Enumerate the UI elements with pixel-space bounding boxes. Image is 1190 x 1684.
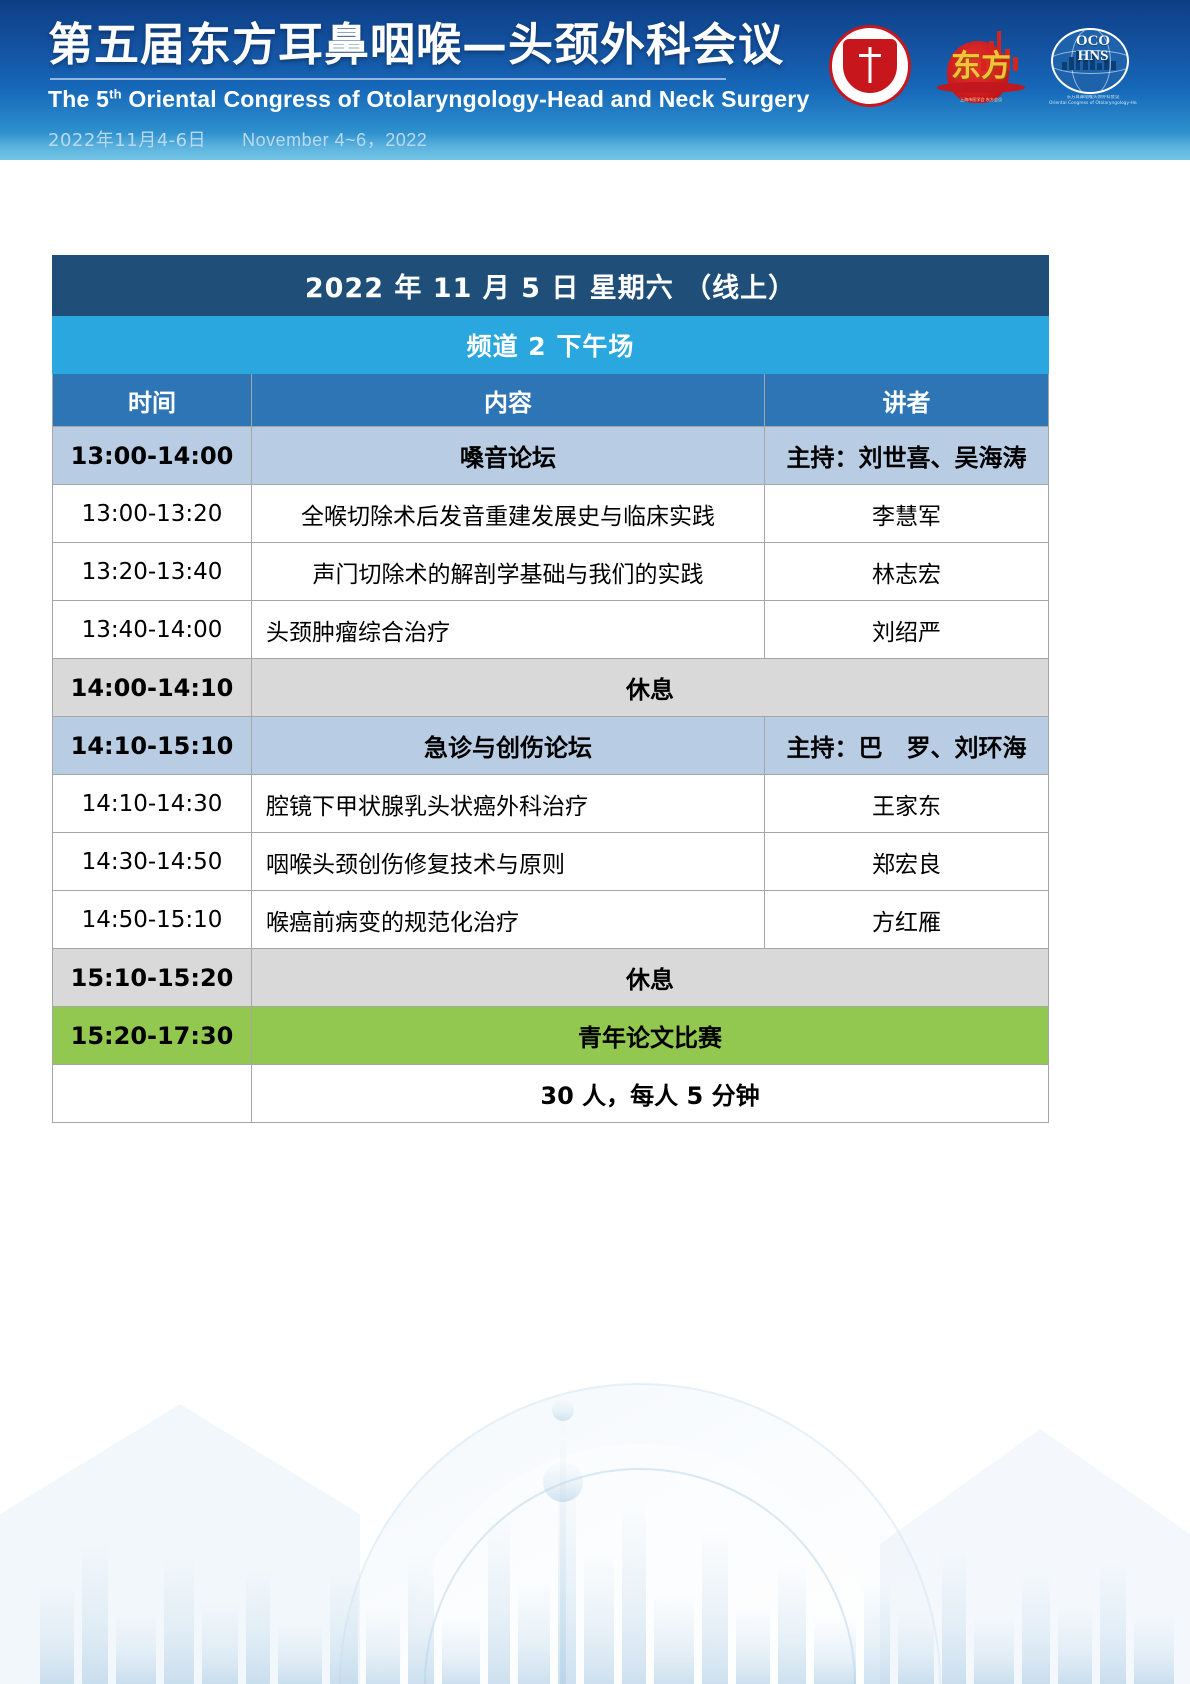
contest-note-time <box>53 1065 252 1123</box>
day-title-row: 2022 年 11 月 5 日 星期六 （线上） <box>53 256 1049 316</box>
break-time: 15:10-15:20 <box>53 949 252 1007</box>
break-time: 14:00-14:10 <box>53 659 252 717</box>
talk-speaker: 王家东 <box>765 775 1049 833</box>
break-label: 休息 <box>252 949 1049 1007</box>
break-label: 休息 <box>252 659 1049 717</box>
congress-title-english-pre: The 5 <box>48 86 109 112</box>
talk-title: 全喉切除术后发音重建发展史与临床实践 <box>252 485 765 543</box>
talk-title: 头颈肿瘤综合治疗 <box>252 601 765 659</box>
shanghai-medical-association-logo <box>829 25 911 107</box>
oriental-congress-logo-caption: 上海市医学会 东方会议 <box>939 97 1023 103</box>
oco-hns-logo-line1: OCO <box>1051 34 1135 49</box>
oco-hns-logo: OCO HNS 东方耳鼻咽喉头颈外科会议 Oriental Congress o… <box>1051 24 1135 108</box>
channel-row: 频道 2 下午场 <box>53 316 1049 374</box>
column-header-time: 时间 <box>53 374 252 427</box>
congress-dates-chinese: 2022年11月4-6日 <box>48 130 206 151</box>
schedule-table-body: 2022 年 11 月 5 日 星期六 （线上） 频道 2 下午场 时间 内容 … <box>53 256 1049 1123</box>
oco-hns-logo-line2: HNS <box>1051 49 1135 64</box>
session-moderators: 主持：巴 罗、刘环海 <box>765 717 1049 775</box>
break-row: 15:10-15:20 休息 <box>53 949 1049 1007</box>
session-time: 14:10-15:10 <box>53 717 252 775</box>
congress-title-english-post: Oriental Congress of Otolaryngology-Head… <box>122 86 810 112</box>
column-header-content: 内容 <box>252 374 765 427</box>
table-row: 13:20-13:40 声门切除术的解剖学基础与我们的实践 林志宏 <box>53 543 1049 601</box>
break-row: 14:00-14:10 休息 <box>53 659 1049 717</box>
table-row: 14:30-14:50 咽喉头颈创伤修复技术与原则 郑宏良 <box>53 833 1049 891</box>
congress-dates: 2022年11月4-6日November 4~6，2022 <box>48 126 1190 152</box>
table-row: 14:10-14:30 腔镜下甲状腺乳头状癌外科治疗 王家东 <box>53 775 1049 833</box>
contest-row: 15:20-17:30 青年论文比赛 <box>53 1007 1049 1065</box>
column-header-speaker: 讲者 <box>765 374 1049 427</box>
talk-time: 13:40-14:00 <box>53 601 252 659</box>
table-row: 14:50-15:10 喉癌前病变的规范化治疗 方红雁 <box>53 891 1049 949</box>
oriental-congress-logo-glyph: 东方 <box>951 41 1011 85</box>
session-time: 13:00-14:00 <box>53 427 252 485</box>
talk-speaker: 刘绍严 <box>765 601 1049 659</box>
ordinal-suffix: th <box>109 86 122 101</box>
contest-time: 15:20-17:30 <box>53 1007 252 1065</box>
talk-time: 13:00-13:20 <box>53 485 252 543</box>
table-row: 13:40-14:00 头颈肿瘤综合治疗 刘绍严 <box>53 601 1049 659</box>
talk-title: 咽喉头颈创伤修复技术与原则 <box>252 833 765 891</box>
session-title: 嗓音论坛 <box>252 427 765 485</box>
talk-time: 14:30-14:50 <box>53 833 252 891</box>
talk-speaker: 林志宏 <box>765 543 1049 601</box>
contest-note-row: 30 人，每人 5 分钟 <box>53 1065 1049 1123</box>
session-title: 急诊与创伤论坛 <box>252 717 765 775</box>
skyline-watermark <box>0 1214 1190 1684</box>
oriental-congress-logo: 东方 上海市医学会 东方会议 <box>933 27 1029 105</box>
congress-dates-english: November 4~6，2022 <box>242 130 427 150</box>
oco-hns-logo-caption-en: Oriental Congress of Otolaryngology-Head… <box>1049 101 1137 107</box>
talk-title: 腔镜下甲状腺乳头状癌外科治疗 <box>252 775 765 833</box>
talk-speaker: 李慧军 <box>765 485 1049 543</box>
contest-label: 青年论文比赛 <box>252 1007 1049 1065</box>
session-header-row: 13:00-14:00 嗓音论坛 主持：刘世喜、吴海涛 <box>53 427 1049 485</box>
title-divider <box>50 78 726 80</box>
schedule-sheet: 2022 年 11 月 5 日 星期六 （线上） 频道 2 下午场 时间 内容 … <box>0 160 1190 1123</box>
day-title-cell: 2022 年 11 月 5 日 星期六 （线上） <box>53 256 1049 316</box>
talk-speaker: 郑宏良 <box>765 833 1049 891</box>
talk-title: 声门切除术的解剖学基础与我们的实践 <box>252 543 765 601</box>
session-header-row: 14:10-15:10 急诊与创伤论坛 主持：巴 罗、刘环海 <box>53 717 1049 775</box>
column-header-row: 时间 内容 讲者 <box>53 374 1049 427</box>
talk-time: 14:50-15:10 <box>53 891 252 949</box>
talk-title: 喉癌前病变的规范化治疗 <box>252 891 765 949</box>
channel-cell: 频道 2 下午场 <box>53 316 1049 374</box>
talk-time: 13:20-13:40 <box>53 543 252 601</box>
logo-group: 东方 上海市医学会 东方会议 OCO HNS 东方耳鼻咽喉头颈外科会议 Orie… <box>829 24 1135 108</box>
contest-note-label: 30 人，每人 5 分钟 <box>252 1065 1049 1123</box>
talk-time: 14:10-14:30 <box>53 775 252 833</box>
schedule-table: 2022 年 11 月 5 日 星期六 （线上） 频道 2 下午场 时间 内容 … <box>52 255 1049 1123</box>
talk-speaker: 方红雁 <box>765 891 1049 949</box>
session-moderators: 主持：刘世喜、吴海涛 <box>765 427 1049 485</box>
page-header-banner: 第五届东方耳鼻咽喉—头颈外科会议 The 5th Oriental Congre… <box>0 0 1190 160</box>
table-row: 13:00-13:20 全喉切除术后发音重建发展史与临床实践 李慧军 <box>53 485 1049 543</box>
